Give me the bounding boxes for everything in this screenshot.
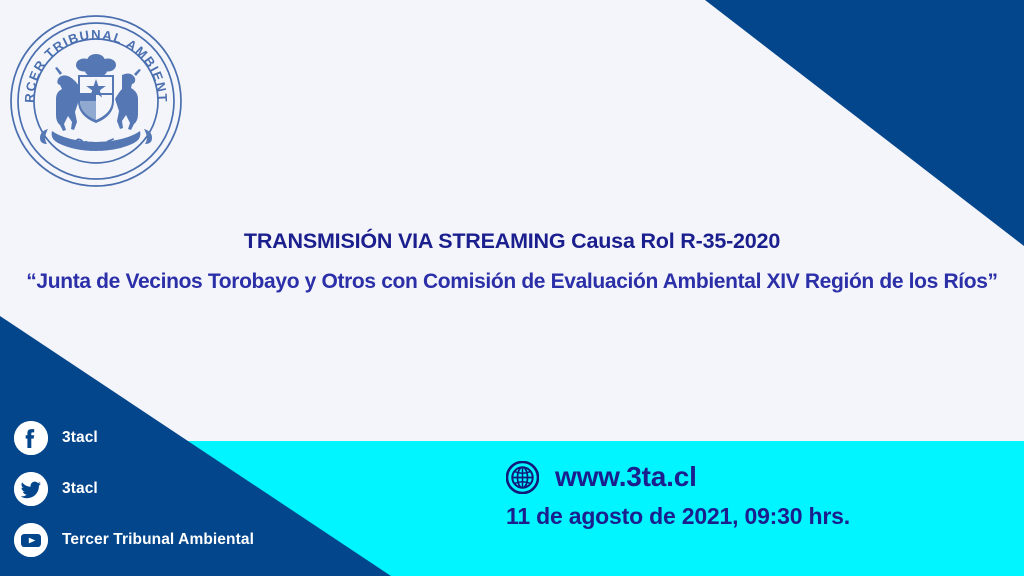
social-row-facebook[interactable]: 3tacl (14, 412, 344, 463)
streaming-announcement-slide: TERCER TRIBUNAL AMBIENTAL CHILE (0, 0, 1024, 576)
facebook-handle: 3tacl (62, 429, 98, 447)
case-subtitle: “Junta de Vecinos Torobayo y Otros con C… (24, 268, 1000, 296)
page-title: TRANSMISIÓN VIA STREAMING Causa Rol R-35… (24, 228, 1000, 255)
globe-icon (506, 461, 539, 494)
shield-lower-left-band (80, 95, 96, 101)
website-url[interactable]: www.3ta.cl (555, 461, 697, 493)
website-row[interactable]: www.3ta.cl (506, 456, 966, 498)
facebook-icon[interactable] (14, 421, 48, 455)
twitter-handle: 3tacl (62, 480, 98, 498)
social-row-twitter[interactable]: 3tacl (14, 463, 344, 514)
social-row-youtube[interactable]: Tercer Tribunal Ambiental (14, 514, 344, 565)
event-datetime: 11 de agosto de 2021, 09:30 hrs. (506, 503, 966, 530)
tribunal-logo: TERCER TRIBUNAL AMBIENTAL CHILE (8, 13, 184, 189)
web-and-date-block: www.3ta.cl 11 de agosto de 2021, 09:30 h… (506, 456, 966, 530)
youtube-icon[interactable] (14, 523, 48, 557)
twitter-icon[interactable] (14, 472, 48, 506)
headline-block: TRANSMISIÓN VIA STREAMING Causa Rol R-35… (24, 228, 1000, 296)
social-links-list: 3tacl 3tacl Tercer Tribunal Ambiental (14, 412, 344, 565)
youtube-channel-name: Tercer Tribunal Ambiental (62, 531, 254, 549)
